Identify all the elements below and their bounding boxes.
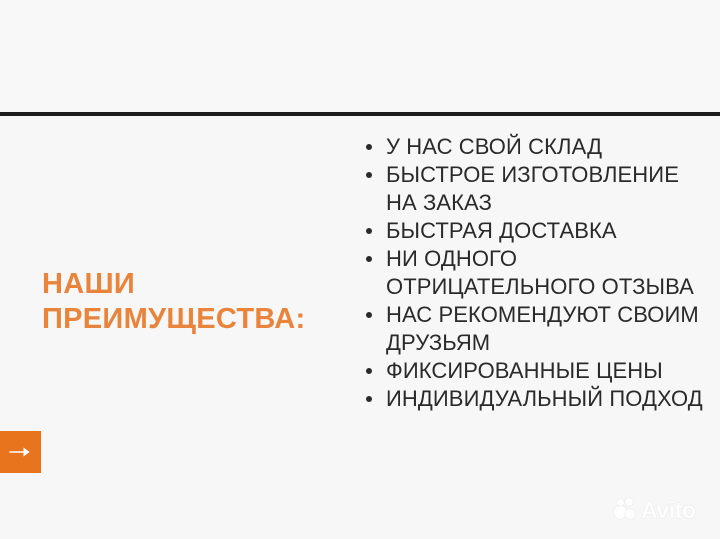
bullet-icon (366, 312, 372, 318)
list-item-label: НИ ОДНОГО ОТРИЦАТЕЛЬНОГО ОТЗЫВА (386, 246, 694, 299)
page-title-line-2: ПРЕИМУЩЕСТВА: (42, 302, 362, 337)
list-item: ФИКСИРОВАННЫЕ ЦЕНЫ (360, 357, 710, 385)
bullet-icon (366, 256, 372, 262)
list-item-label: ИНДИВИДУАЛЬНЫЙ ПОДХОД (386, 386, 703, 411)
horizontal-divider (0, 112, 720, 116)
list-item-label: ФИКСИРОВАННЫЕ ЦЕНЫ (386, 358, 663, 383)
slide-canvas: НАШИ ПРЕИМУЩЕСТВА: У НАС СВОЙ СКЛАД БЫСТ… (0, 0, 720, 539)
bullet-icon (366, 144, 372, 150)
avito-watermark: Avito (614, 498, 696, 522)
list-item: У НАС СВОЙ СКЛАД (360, 133, 710, 161)
arrow-right-icon (9, 446, 33, 458)
list-item: НИ ОДНОГО ОТРИЦАТЕЛЬНОГО ОТЗЫВА (360, 245, 710, 301)
list-item-label: У НАС СВОЙ СКЛАД (386, 134, 602, 159)
bullet-icon (366, 396, 372, 402)
list-item: НАС РЕКОМЕНДУЮТ СВОИМ ДРУЗЬЯМ (360, 301, 710, 357)
benefits-list: У НАС СВОЙ СКЛАД БЫСТРОЕ ИЗГОТОВЛЕНИЕ НА… (360, 133, 710, 413)
bullet-icon (366, 368, 372, 374)
list-item: БЫСТРОЕ ИЗГОТОВЛЕНИЕ НА ЗАКАЗ (360, 161, 710, 217)
bullet-icon (366, 228, 372, 234)
top-blank-band (0, 0, 720, 112)
list-item: ИНДИВИДУАЛЬНЫЙ ПОДХОД (360, 385, 710, 413)
avito-dots-icon (614, 498, 638, 522)
list-item-label: НАС РЕКОМЕНДУЮТ СВОИМ ДРУЗЬЯМ (386, 302, 699, 355)
avito-wordmark: Avito (641, 498, 696, 522)
list-item: БЫСТРАЯ ДОСТАВКА (360, 217, 710, 245)
next-slide-button[interactable] (0, 431, 41, 473)
list-item-label: БЫСТРОЕ ИЗГОТОВЛЕНИЕ НА ЗАКАЗ (386, 162, 679, 215)
page-title: НАШИ ПРЕИМУЩЕСТВА: (42, 267, 362, 337)
bullet-icon (366, 172, 372, 178)
list-item-label: БЫСТРАЯ ДОСТАВКА (386, 218, 617, 243)
page-title-line-1: НАШИ (42, 267, 362, 302)
